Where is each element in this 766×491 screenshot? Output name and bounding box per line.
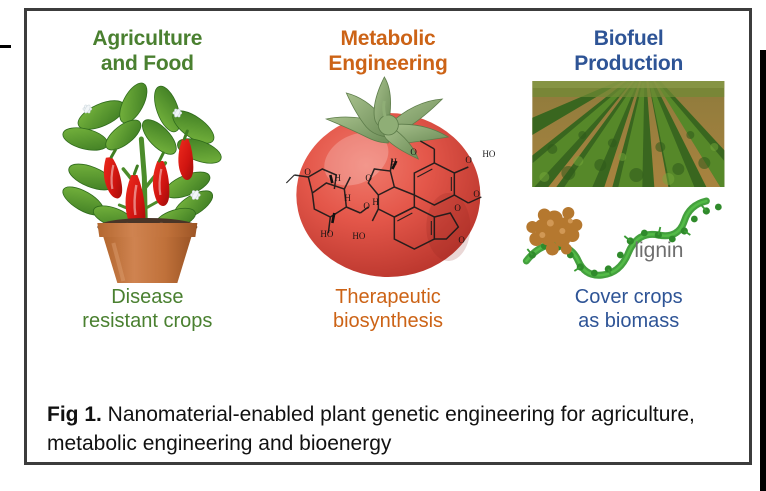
svg-text:H: H: [372, 197, 379, 207]
panel-caption-metabolic: Therapeutic biosynthesis: [333, 285, 443, 333]
panel-heading-line2: Engineering: [328, 52, 447, 75]
svg-text:O: O: [410, 147, 417, 157]
panel-heading-line1: Biofuel: [594, 27, 664, 50]
panel-heading-biofuel: Biofuel Production: [574, 27, 683, 77]
panel-caption-agriculture: Disease resistant crops: [82, 285, 212, 333]
chili-plant-illustration: [27, 77, 268, 285]
page-rule-right: [760, 50, 766, 491]
svg-text:O: O: [363, 201, 370, 211]
svg-text:O: O: [458, 235, 465, 245]
lignin-label: lignin: [635, 239, 684, 262]
figure-box: Agriculture and Food: [24, 8, 752, 465]
pot-rim: [97, 223, 197, 237]
crop-field-and-lignin-icon: lignin: [508, 77, 749, 285]
figure-caption-text: Nanomaterial-enabled plant genetic engin…: [47, 403, 695, 454]
crop-rows-photograph: [469, 81, 759, 187]
tomato-with-chemical-overlay-icon: O O O O O O O O HO HO HO H H H H: [268, 77, 509, 285]
svg-text:HO: HO: [482, 149, 495, 159]
panel-heading-line1: Agriculture: [92, 27, 202, 50]
panel-row: Agriculture and Food: [27, 11, 749, 381]
panel-metabolic: Metabolic Engineering: [268, 11, 509, 381]
svg-text:O: O: [304, 167, 311, 177]
panel-caption-line1: Cover crops: [575, 286, 683, 308]
panel-heading-line1: Metabolic: [340, 27, 435, 50]
potted-chili-plant-icon: [27, 77, 268, 285]
panel-caption-biofuel: Cover crops as biomass: [575, 285, 683, 333]
svg-text:O: O: [365, 173, 372, 183]
tomato-illustration: O O O O O O O O HO HO HO H H H H: [268, 77, 509, 285]
biofuel-illustration: lignin: [508, 77, 749, 285]
panel-agriculture: Agriculture and Food: [27, 11, 268, 381]
panel-heading-line2: Production: [574, 52, 683, 75]
svg-text:H: H: [334, 173, 341, 183]
panel-caption-line1: Disease: [111, 286, 183, 308]
panel-heading-line2: and Food: [101, 52, 194, 75]
panel-biofuel: Biofuel Production: [508, 11, 749, 381]
svg-text:HO: HO: [352, 231, 365, 241]
svg-text:HO: HO: [320, 229, 333, 239]
figure-caption-label: Fig 1.: [47, 403, 102, 426]
svg-text:O: O: [473, 189, 480, 199]
panel-heading-agriculture: Agriculture and Food: [92, 27, 202, 77]
svg-text:O: O: [454, 203, 461, 213]
svg-text:H: H: [344, 193, 351, 203]
panel-heading-metabolic: Metabolic Engineering: [328, 27, 447, 77]
panel-caption-line2: biosynthesis: [333, 310, 443, 332]
figure-caption: Fig 1. Nanomaterial-enabled plant geneti…: [27, 401, 749, 458]
panel-caption-line2: as biomass: [578, 310, 679, 332]
panel-caption-line2: resistant crops: [82, 310, 212, 332]
svg-text:O: O: [465, 155, 472, 165]
panel-caption-line1: Therapeutic: [335, 286, 441, 308]
page-rule-left: [0, 45, 11, 48]
